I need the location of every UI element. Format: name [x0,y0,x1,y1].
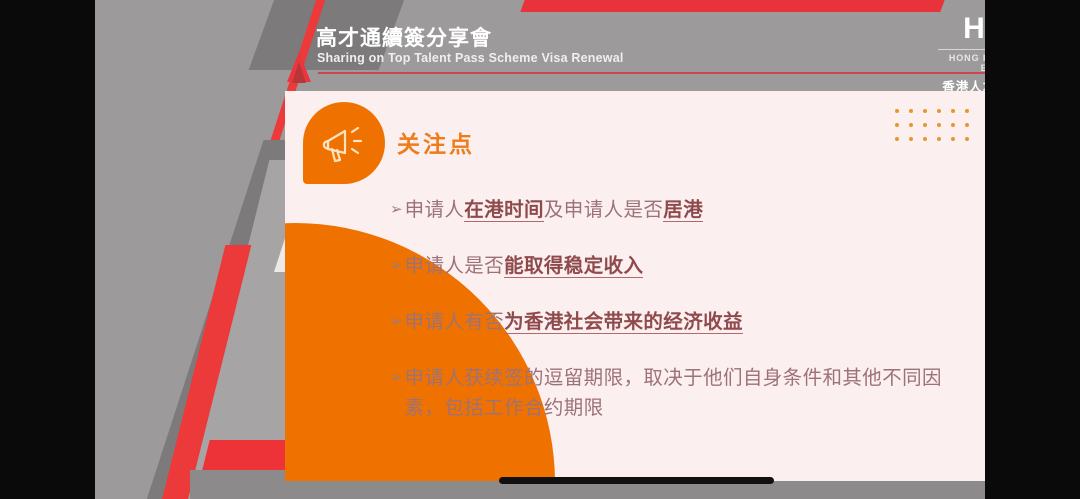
megaphone-badge [303,102,385,192]
bullet-text-emphasis: 能取得稳定收入 [504,255,643,278]
header-title-zh: 高才通續簽分享會 [316,22,492,52]
bullet-list: ➢申请人在港时间及申请人是否居港➢申请人是否能取得稳定收入➢申请人有否为香港社会… [390,195,960,423]
decor-dot [923,123,927,127]
decor-dot [923,137,927,141]
presentation-slide: 关注点 ➢申请人在港时间及申请人是否居港➢申请人是否能取得稳定收入➢申请人有否为… [285,91,985,481]
decor-dot [923,109,927,113]
bullet-text-emphasis: 为香港社会带来的经济收益 [504,311,743,334]
megaphone-icon [319,119,369,167]
bullet-text-emphasis: 在港时间 [464,199,544,222]
logo-wordmark: HK E [938,14,985,46]
decor-dot [895,137,899,141]
logo-tagline-en: HONG KONG TALENT ENGAGE [938,53,985,73]
slide-header: 高才通續簽分享會 Sharing on Top Talent Pass Sche… [190,0,985,91]
decor-dot [909,123,913,127]
decor-dot [937,123,941,127]
bullet-text-emphasis: 居港 [663,199,703,222]
bullet-item: ➢申请人获续签的逗留期限，取决于他们自身条件和其他不同因素，包括工作合约期限 [390,363,960,423]
decor-dot [965,109,969,113]
slide-heading: 关注点 [397,125,475,159]
bullet-text-plain: 申请人 [405,199,465,221]
header-title-en: Sharing on Top Talent Pass Scheme Visa R… [317,51,624,65]
decor-dot [895,123,899,127]
bullet-text-plain: 及申请人是否 [544,199,663,221]
logo-divider [938,49,985,50]
bullet-text-plain: 申请人有否 [405,311,505,333]
bullet-item: ➢申请人在港时间及申请人是否居港 [390,195,960,225]
video-stage: 高才通續簽分享會 Sharing on Top Talent Pass Sche… [0,0,1080,499]
bullet-item: ➢申请人是否能取得稳定收入 [390,251,960,281]
bullet-arrow-icon: ➢ [390,195,403,225]
decor-dot [937,109,941,113]
bullet-text: 申请人是否能取得稳定收入 [405,251,644,281]
bullet-text: 申请人获续签的逗留期限，取决于他们自身条件和其他不同因素，包括工作合约期限 [405,363,960,423]
bullet-text: 申请人在港时间及申请人是否居港 [405,195,704,225]
bullet-text-plain: 申请人获续签的逗留期限，取决于他们自身条件和其他不同因素，包括工作合约期限 [405,367,942,419]
decor-dot [965,123,969,127]
bullet-text: 申请人有否为香港社会带来的经济收益 [405,307,743,337]
decor-dot [895,109,899,113]
progress-indicator[interactable] [499,477,774,484]
decor-dot [937,137,941,141]
header-arrow-icon-inner [292,62,306,83]
hkte-logo: HK E HONG KONG TALENT ENGAGE 香港人才服務辦公室 [938,14,985,95]
bullet-arrow-icon: ➢ [390,307,403,337]
decor-dot [965,137,969,141]
decor-dot [951,123,955,127]
decor-dot-grid [890,104,974,146]
video-frame[interactable]: 高才通續簽分享會 Sharing on Top Talent Pass Sche… [95,0,985,499]
decor-dot [951,137,955,141]
decor-dot [909,109,913,113]
header-divider [318,72,985,74]
bullet-text-plain: 申请人是否 [405,255,505,277]
bullet-arrow-icon: ➢ [390,251,403,281]
decor-dot [951,109,955,113]
bullet-arrow-icon: ➢ [390,363,403,423]
decor-dot [909,137,913,141]
bullet-item: ➢申请人有否为香港社会带来的经济收益 [390,307,960,337]
